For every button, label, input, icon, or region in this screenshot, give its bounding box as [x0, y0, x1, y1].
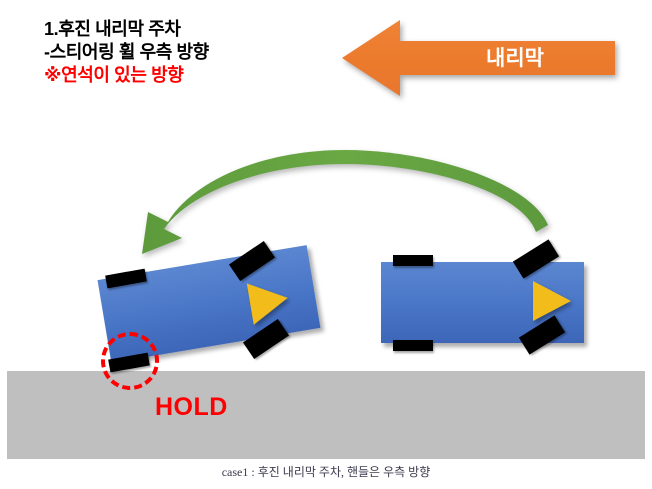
rotation-arrow-icon — [130, 140, 570, 260]
hold-highlight-circle — [101, 332, 159, 390]
heading-text-block: 1.후진 내리막 주차 -스티어링 휠 우측 방향 ※연석이 있는 방향 — [44, 18, 324, 87]
hold-label: HOLD — [155, 393, 228, 422]
slide-caption: case1 : 후진 내리막 주차, 핸들은 우측 방향 — [0, 463, 652, 480]
heading-line-3-note: ※연석이 있는 방향 — [44, 64, 324, 87]
car-left-direction-triangle-icon — [247, 277, 291, 325]
car-right-rear-right-wheel — [393, 340, 433, 351]
slide-canvas: 1.후진 내리막 주차 -스티어링 휠 우측 방향 ※연석이 있는 방향 내리막 — [0, 0, 652, 489]
car-right-direction-triangle-icon — [533, 281, 571, 321]
downhill-arrow-icon — [338, 18, 618, 98]
road-surface — [7, 371, 645, 459]
heading-line-2: -스티어링 휠 우측 방향 — [44, 41, 324, 64]
heading-line-1: 1.후진 내리막 주차 — [44, 18, 324, 41]
car-right-rear-left-wheel — [393, 255, 433, 266]
